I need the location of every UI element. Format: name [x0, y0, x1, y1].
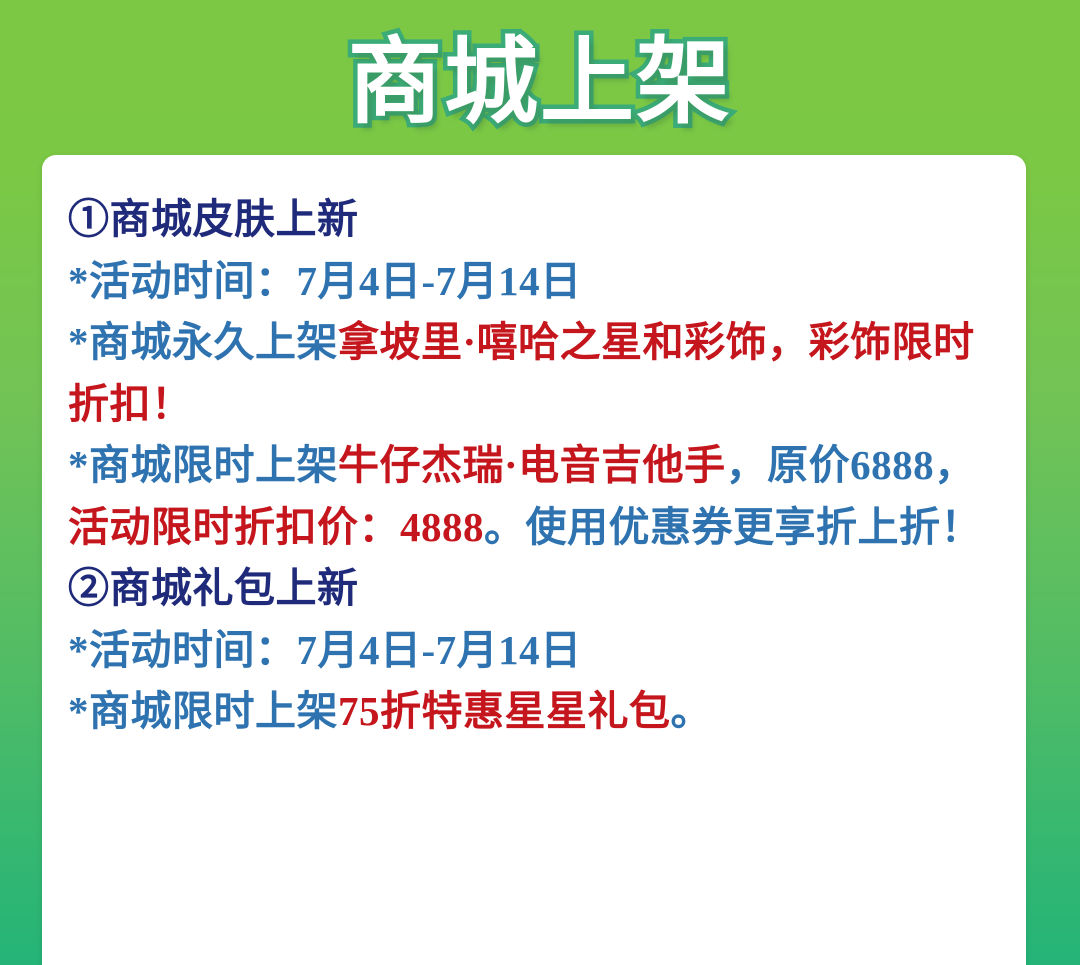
section-heading-2: ②商城礼包上新	[68, 558, 1000, 620]
announcement-line-skin-permanent: *商城永久上架拿坡里·嘻哈之星和彩饰，彩饰限时折扣！	[68, 312, 1000, 435]
announcement-card: ①商城皮肤上新 *活动时间：7月4日-7月14日 *商城永久上架拿坡里·嘻哈之星…	[42, 155, 1026, 965]
announcement-line-gift-time: *活动时间：7月4日-7月14日	[68, 620, 1000, 682]
promo-poster: 商城上架 ①商城皮肤上新 *活动时间：7月4日-7月14日 *商城永久上架拿坡里…	[0, 0, 1080, 965]
poster-title-banner: 商城上架	[0, 18, 1080, 148]
text-segment-highlight: 活动限时折扣价：4888	[68, 504, 484, 550]
text-segment: *活动时间：7月4日-7月14日	[68, 627, 582, 673]
announcement-body: ①商城皮肤上新 *活动时间：7月4日-7月14日 *商城永久上架拿坡里·嘻哈之星…	[68, 189, 1000, 743]
section-heading-1: ①商城皮肤上新	[68, 189, 1000, 251]
text-segment: 。使用优惠券更享折上折！	[484, 504, 982, 550]
announcement-line-skin-time: *活动时间：7月4日-7月14日	[68, 251, 1000, 313]
page-title: 商城上架	[348, 36, 732, 130]
text-segment: *商城限时上架	[68, 442, 338, 488]
text-segment: ，原价6888，	[726, 442, 976, 488]
announcement-line-gift-limited: *商城限时上架75折特惠星星礼包。	[68, 681, 1000, 743]
text-segment: *活动时间：7月4日-7月14日	[68, 258, 582, 304]
text-segment: *商城限时上架	[68, 688, 338, 734]
text-segment: *商城永久上架	[68, 319, 338, 365]
text-segment: 。	[671, 688, 713, 734]
text-segment-highlight: 牛仔杰瑞·电音吉他手	[338, 442, 726, 488]
text-segment-highlight: 75折特惠星星礼包	[338, 688, 671, 734]
announcement-line-skin-limited: *商城限时上架牛仔杰瑞·电音吉他手，原价6888，活动限时折扣价：4888。使用…	[68, 435, 1000, 558]
